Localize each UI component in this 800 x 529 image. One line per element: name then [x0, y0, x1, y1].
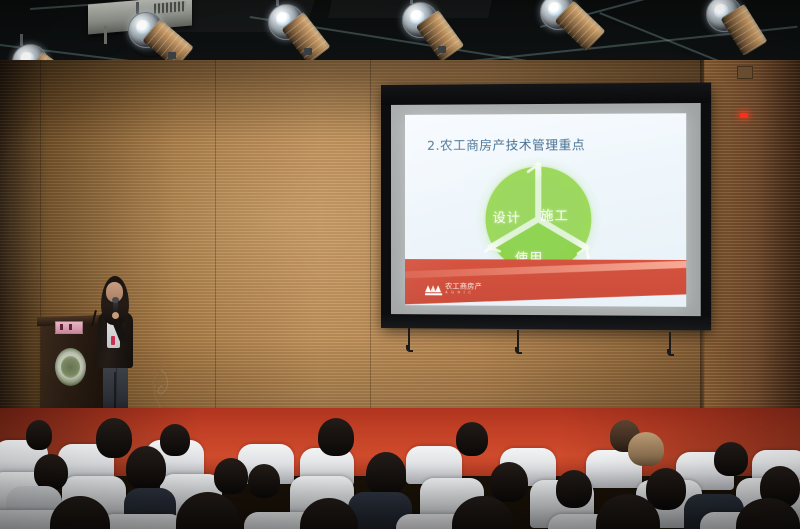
- cycle-segment-label-construction: 施工: [540, 205, 569, 224]
- audience-head: [26, 420, 52, 450]
- seated-audience: [0, 418, 800, 529]
- audience-head: [96, 418, 132, 458]
- audience-seat: [100, 514, 184, 529]
- audience-head: [456, 422, 488, 456]
- screen-top-bar: [381, 83, 711, 105]
- screen-bottom-bar: [381, 314, 711, 330]
- cycle-segment-label-design: 设计: [493, 207, 521, 226]
- logo-company-name: 农工商房产: [445, 283, 482, 290]
- spotlight-clamp: [304, 48, 312, 55]
- spotlight-yoke: [20, 34, 23, 46]
- logo-text: 农工商房产 A G R I C: [445, 283, 482, 295]
- wall-seam: [370, 60, 371, 460]
- screen-surface: 2.农工商房产技术管理重点: [391, 103, 701, 316]
- audience-head: [126, 446, 166, 490]
- audience-head: [318, 418, 354, 456]
- audience-head: [628, 432, 664, 466]
- projector-vent: [154, 1, 186, 14]
- name-plate: [55, 321, 83, 334]
- audience-head: [214, 458, 248, 494]
- side-wall: [704, 60, 800, 460]
- wall-seam: [215, 60, 216, 460]
- slide-title: 2.农工商房产技术管理重点: [427, 134, 585, 154]
- projector-mount: [104, 26, 107, 44]
- screen-tension-hook: [669, 332, 671, 354]
- hanging-cable: [148, 358, 174, 410]
- audience-head: [160, 424, 190, 456]
- logo-subtitle: A G R I C: [445, 292, 482, 296]
- spotlight-clamp: [168, 52, 176, 59]
- status-led-icon: [740, 113, 748, 117]
- audience-head: [34, 454, 68, 490]
- audience-head: [556, 470, 592, 508]
- presenter-hand: [112, 312, 119, 319]
- screen-tension-hook: [517, 330, 519, 352]
- spotlight-clamp: [438, 46, 446, 53]
- company-logo: 农工商房产 A G R I C: [425, 283, 482, 295]
- audience-head: [490, 462, 528, 502]
- audience-head: [366, 452, 406, 496]
- presentation-slide: 2.农工商房产技术管理重点: [405, 113, 686, 307]
- spotlight-yoke: [136, 2, 139, 14]
- lecture-hall-photo: 2.农工商房产技术管理重点: [0, 0, 800, 529]
- projection-screen: 2.农工商房产技术管理重点: [381, 83, 711, 331]
- three-peaks-icon: [425, 284, 442, 295]
- female-presenter: [92, 276, 140, 412]
- audience-head: [714, 442, 748, 476]
- audience-head: [248, 464, 280, 498]
- institution-crest: [55, 348, 86, 386]
- screen-tension-hook: [408, 328, 410, 350]
- wall-fixture: [737, 66, 753, 79]
- presenter-lanyard: [111, 336, 115, 345]
